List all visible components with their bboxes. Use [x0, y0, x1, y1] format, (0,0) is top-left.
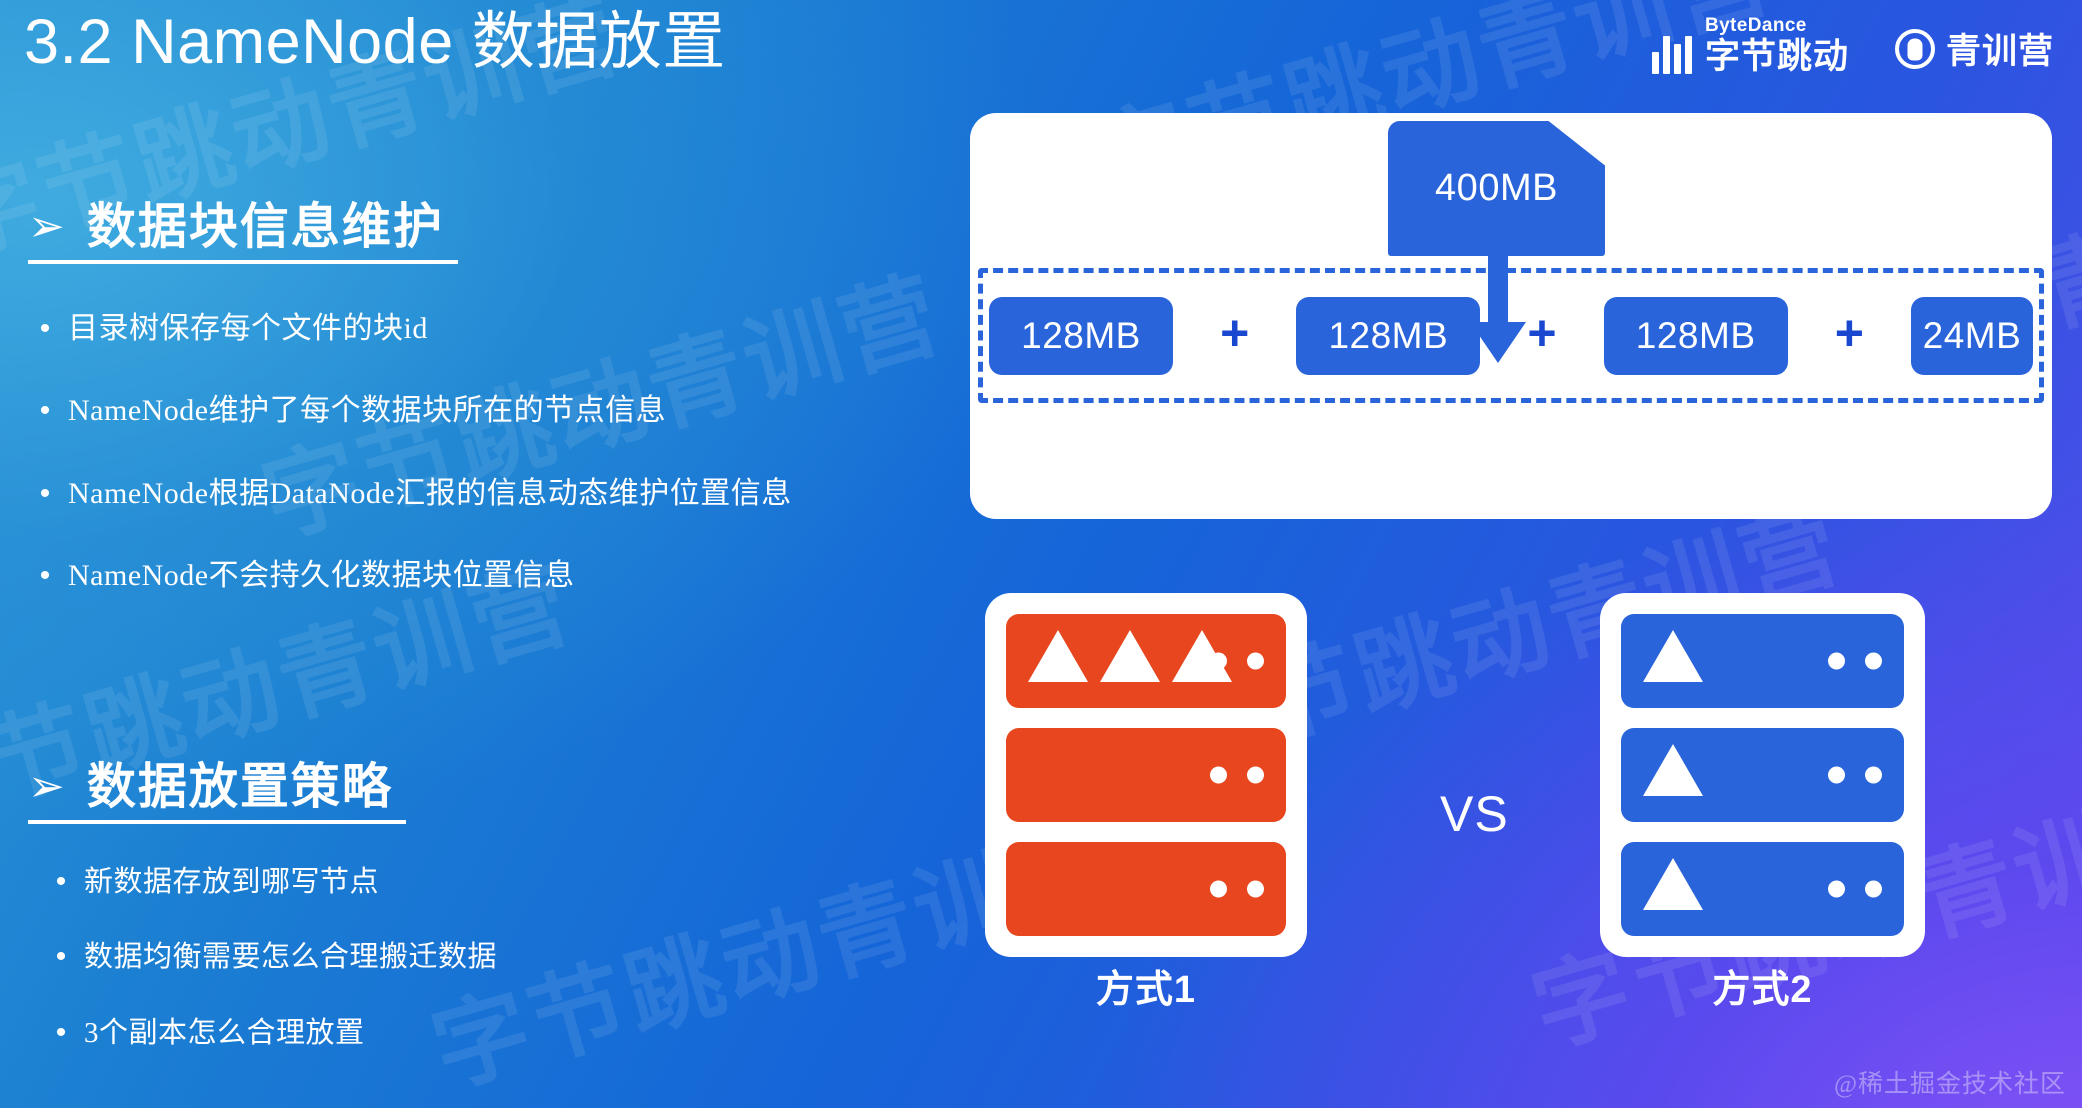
bytedance-logo: ByteDance 字节跳动 — [1652, 16, 1849, 74]
plus-operator-icon: + — [1835, 308, 1864, 364]
list-item-label: NameNode根据DataNode汇报的信息动态维护位置信息 — [68, 477, 792, 512]
chunk-block: 128MB — [1604, 297, 1788, 375]
server-row — [1006, 614, 1286, 708]
qingxunying-logo-cn: 青训营 — [1946, 23, 2054, 74]
file-block-shape: 400MB — [1388, 121, 1605, 256]
replica-triangle-icon — [1028, 630, 1088, 682]
page-title: 3.2 NameNode 数据放置 — [24, 8, 726, 77]
logo-group: ByteDance 字节跳动 青训营 — [1652, 16, 2054, 74]
replica-triangle-icon — [1643, 858, 1703, 910]
server-row — [1621, 842, 1904, 936]
server-indicator-dots-icon — [1828, 653, 1882, 670]
rack-label: 方式1 — [1096, 971, 1196, 1009]
list-item-label: 目录树保存每个文件的块id — [68, 312, 428, 347]
bullet-dot-icon: • — [22, 396, 68, 426]
server-indicator-dots-icon — [1828, 881, 1882, 898]
server-row — [1621, 614, 1904, 708]
server-row — [1621, 728, 1904, 822]
arrow-marker-icon: ➢ — [28, 205, 65, 249]
bytedance-bars-icon — [1652, 36, 1692, 74]
bytedance-logo-cn: 字节跳动 — [1705, 39, 1849, 74]
vs-label: VS — [1440, 785, 1509, 843]
chunk-group: 128MB + 128MB + 128MB + 24MB — [978, 268, 2044, 403]
block-split-diagram-panel: 400MB 128MB + 128MB + 128MB + 24MB — [970, 113, 2052, 519]
corner-watermark: @稀土掘金技术社区 — [1834, 1064, 2066, 1100]
plus-operator-icon: + — [1220, 308, 1249, 364]
server-indicator-dots-icon — [1828, 767, 1882, 784]
qingxunying-circle-icon — [1895, 29, 1935, 69]
replica-triangle-icon — [1643, 630, 1703, 682]
chunk-block: 24MB — [1911, 297, 2033, 375]
list-item: • NameNode根据DataNode汇报的信息动态维护位置信息 — [22, 477, 950, 512]
server-indicator-dots-icon — [1210, 653, 1264, 670]
list-item: • 目录树保存每个文件的块id — [22, 312, 950, 347]
rack-chassis — [1600, 593, 1925, 957]
bullet-list: • 目录树保存每个文件的块id • NameNode维护了每个数据块所在的节点信… — [0, 312, 950, 594]
rack-chassis — [985, 593, 1307, 957]
server-indicator-dots-icon — [1210, 767, 1264, 784]
rack-option-2: 方式2 — [1600, 593, 1925, 1009]
qingxunying-logo: 青训营 — [1895, 23, 2054, 74]
rack-comparison: 方式1 方式2 — [0, 575, 2082, 1108]
section-heading: ➢ 数据块信息维护 — [28, 200, 458, 264]
section-title: 数据块信息维护 — [87, 200, 444, 254]
server-row — [1006, 842, 1286, 936]
server-row — [1006, 728, 1286, 822]
replica-triangle-icon — [1643, 744, 1703, 796]
plus-operator-icon: + — [1527, 308, 1556, 364]
replica-triangle-icon — [1100, 630, 1160, 682]
bytedance-logo-en: ByteDance — [1705, 16, 1849, 35]
list-item: • NameNode维护了每个数据块所在的节点信息 — [22, 394, 950, 429]
bullet-dot-icon: • — [22, 479, 68, 509]
server-indicator-dots-icon — [1210, 881, 1264, 898]
chunk-block: 128MB — [1296, 297, 1480, 375]
rack-label: 方式2 — [1712, 971, 1812, 1009]
rack-option-1: 方式1 — [985, 593, 1307, 1009]
bullet-dot-icon: • — [22, 314, 68, 344]
file-size-label: 400MB — [1435, 167, 1558, 210]
chunk-block: 128MB — [989, 297, 1173, 375]
list-item-label: NameNode维护了每个数据块所在的节点信息 — [68, 394, 666, 429]
